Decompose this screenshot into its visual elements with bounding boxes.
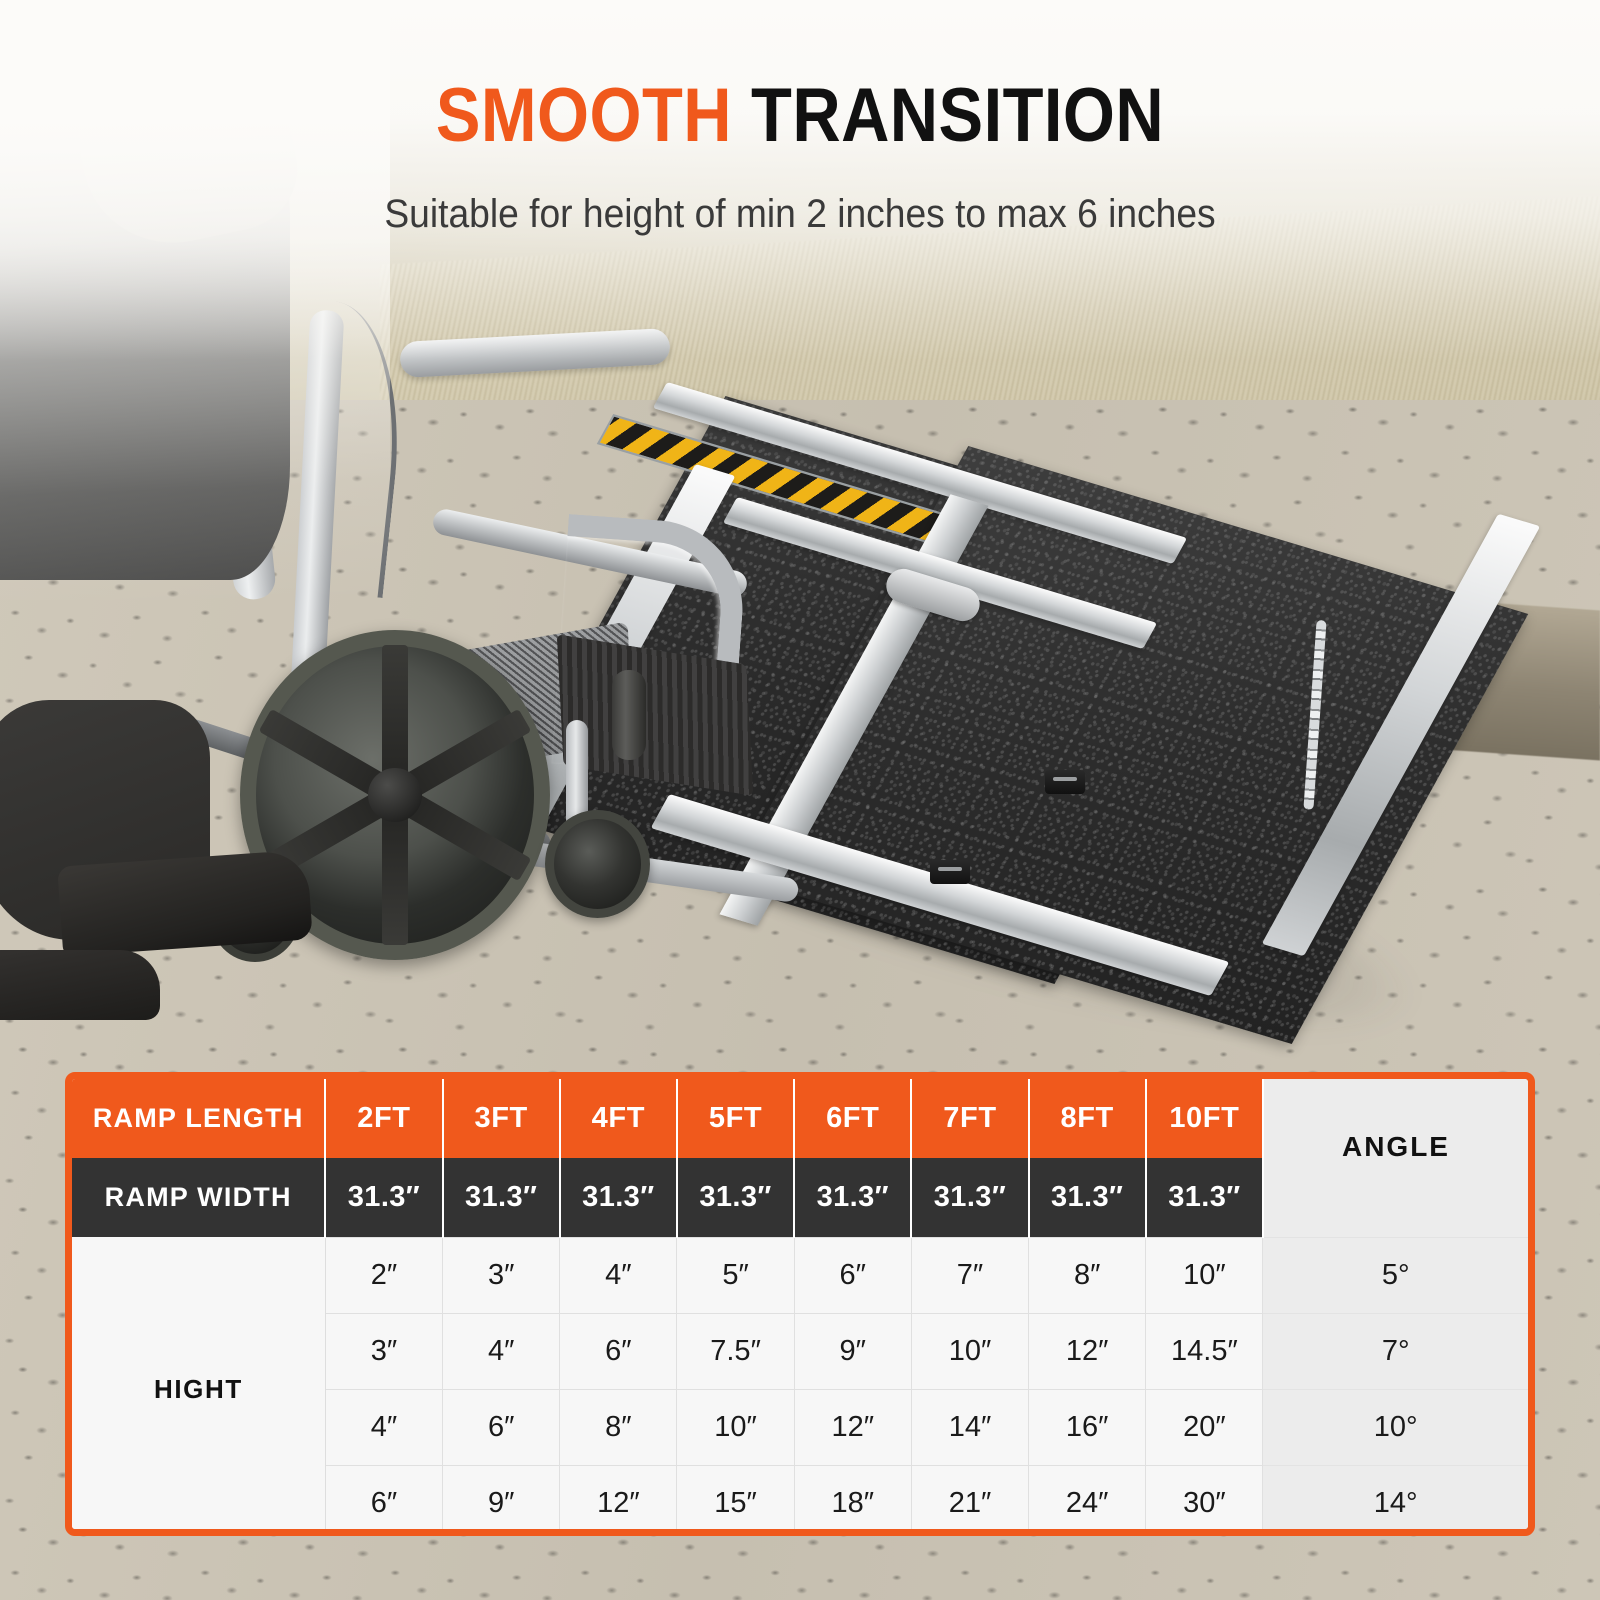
- header-label-ramp-width: RAMP WIDTH: [72, 1158, 325, 1237]
- cell-angle-r0: 5°: [1263, 1237, 1528, 1313]
- cell-height-r2-c3: 10″: [677, 1389, 794, 1465]
- product-marketing-image: SMOOTH TRANSITION Suitable for height of…: [0, 0, 1600, 1600]
- cell-height-r2-c4: 12″: [794, 1389, 911, 1465]
- header-white-gradient: [0, 0, 1600, 360]
- cell-height-r3-c0: 6″: [325, 1465, 442, 1536]
- cell-height-r0-c4: 6″: [794, 1237, 911, 1313]
- cell-height-r3-c4: 18″: [794, 1465, 911, 1536]
- cell-height-r1-c3: 7.5″: [677, 1313, 794, 1389]
- headline-accent-word: SMOOTH: [436, 73, 732, 158]
- page-title: SMOOTH TRANSITION: [96, 78, 1504, 154]
- cell-height-r0-c7: 10″: [1146, 1237, 1263, 1313]
- cell-height-r3-c5: 21″: [911, 1465, 1028, 1536]
- cell-height-r1-c5: 10″: [911, 1313, 1028, 1389]
- cell-angle-r3: 14°: [1263, 1465, 1528, 1536]
- header-ramp-width-4ft: 31.3″: [560, 1158, 677, 1237]
- header-ramp-length-5ft: 5FT: [677, 1079, 794, 1158]
- cell-height-r1-c2: 6″: [560, 1313, 677, 1389]
- header-ramp-length-7ft: 7FT: [911, 1079, 1028, 1158]
- header-ramp-width-5ft: 31.3″: [677, 1158, 794, 1237]
- cell-height-r3-c7: 30″: [1146, 1465, 1263, 1536]
- header-ramp-length-6ft: 6FT: [794, 1079, 911, 1158]
- header-ramp-width-8ft: 31.3″: [1029, 1158, 1146, 1237]
- cell-height-r2-c5: 14″: [911, 1389, 1028, 1465]
- person-shoe-front: [57, 849, 313, 956]
- specification-table: RAMP LENGTH 2FT 3FT 4FT 5FT 6FT 7FT 8FT …: [65, 1072, 1535, 1536]
- cell-height-r3-c1: 9″: [443, 1465, 560, 1536]
- cell-height-r1-c1: 4″: [443, 1313, 560, 1389]
- cell-angle-r1: 7°: [1263, 1313, 1528, 1389]
- header-ramp-length-2ft: 2FT: [325, 1079, 442, 1158]
- header-ramp-width-3ft: 31.3″: [443, 1158, 560, 1237]
- cell-height-r0-c3: 5″: [677, 1237, 794, 1313]
- cell-height-r3-c2: 12″: [560, 1465, 677, 1536]
- cell-height-r1-c7: 14.5″: [1146, 1313, 1263, 1389]
- cell-height-r3-c3: 15″: [677, 1465, 794, 1536]
- cell-height-r3-c6: 24″: [1029, 1465, 1146, 1536]
- page-subtitle: Suitable for height of min 2 inches to m…: [56, 192, 1544, 237]
- cell-height-r1-c4: 9″: [794, 1313, 911, 1389]
- cell-height-r2-c1: 6″: [443, 1389, 560, 1465]
- cell-angle-r2: 10°: [1263, 1389, 1528, 1465]
- wheelchair-caster-stem: [612, 670, 646, 760]
- wheelchair-front-caster: [545, 810, 650, 918]
- cell-height-r2-c2: 8″: [560, 1389, 677, 1465]
- header-ramp-width-6ft: 31.3″: [794, 1158, 911, 1237]
- cell-height-r0-c2: 4″: [560, 1237, 677, 1313]
- header-label-ramp-length: RAMP LENGTH: [72, 1079, 325, 1158]
- header-ramp-length-8ft: 8FT: [1029, 1079, 1146, 1158]
- cell-height-r2-c6: 16″: [1029, 1389, 1146, 1465]
- header-ramp-width-7ft: 31.3″: [911, 1158, 1028, 1237]
- header-angle-column: ANGLE: [1263, 1079, 1528, 1237]
- ramp-carry-strap-a: [1045, 770, 1085, 794]
- cell-height-r0-c6: 8″: [1029, 1237, 1146, 1313]
- cell-height-r2-c0: 4″: [325, 1389, 442, 1465]
- header-ramp-length-10ft: 10FT: [1146, 1079, 1263, 1158]
- cell-height-r0-c1: 3″: [443, 1237, 560, 1313]
- row-label-hight: HIGHT: [72, 1237, 325, 1536]
- cell-height-r0-c5: 7″: [911, 1237, 1028, 1313]
- cell-height-r2-c7: 20″: [1146, 1389, 1263, 1465]
- header-ramp-width-2ft: 31.3″: [325, 1158, 442, 1237]
- headline-plain-word: TRANSITION: [751, 73, 1164, 158]
- ramp-carry-strap-b: [930, 860, 970, 884]
- cell-height-r0-c0: 2″: [325, 1237, 442, 1313]
- cell-height-r1-c0: 3″: [325, 1313, 442, 1389]
- header-ramp-width-10ft: 31.3″: [1146, 1158, 1263, 1237]
- table-row: HIGHT 2″ 3″ 4″ 5″ 6″ 7″ 8″ 10″ 5°: [72, 1237, 1528, 1313]
- header-ramp-length-4ft: 4FT: [560, 1079, 677, 1158]
- header-ramp-length-3ft: 3FT: [443, 1079, 560, 1158]
- table-header-row-ramp-length: RAMP LENGTH 2FT 3FT 4FT 5FT 6FT 7FT 8FT …: [72, 1079, 1528, 1158]
- cell-height-r1-c6: 12″: [1029, 1313, 1146, 1389]
- person-shoe-rear: [0, 950, 160, 1020]
